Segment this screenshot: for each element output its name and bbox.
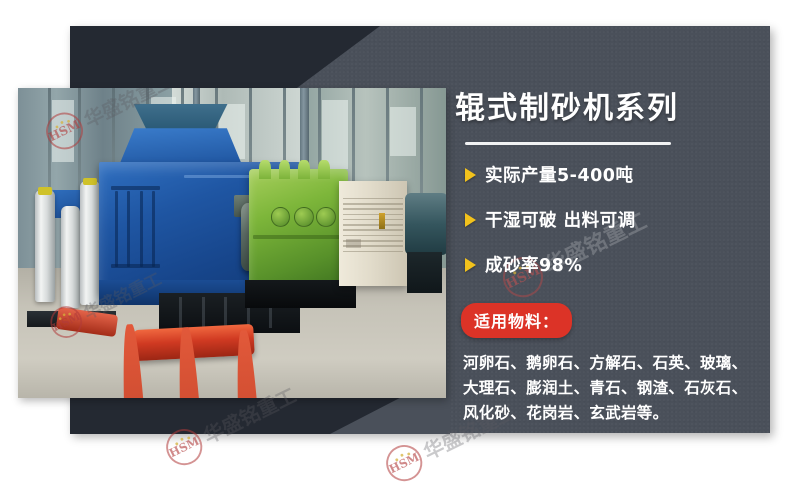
feature-item: 实际产量5-400吨: [455, 162, 770, 187]
feature-list: 实际产量5-400吨 干湿可破 出料可调 成砂率98%: [455, 162, 770, 277]
poster-title: 辊式制砂机系列: [455, 92, 770, 125]
cabinet-label: [379, 213, 385, 230]
machine-teal-motor: [405, 193, 446, 255]
machine-cabinet: [339, 181, 407, 286]
materials-badge: 适用物料：: [461, 303, 572, 338]
poster-canvas: HSM 华盛铭重工 HSM 华盛铭重工 HSM 华盛铭重工: [0, 0, 800, 486]
materials-text: 河卵石、鹅卵石、方解石、石英、玻璃、大理石、膨润土、青石、钢渣、石灰石、风化砂、…: [463, 351, 758, 426]
feature-label: 成砂率98%: [485, 252, 582, 277]
arrow-right-icon: [465, 213, 476, 227]
feature-item: 成砂率98%: [455, 252, 770, 277]
title-divider: [465, 142, 671, 145]
machine-teal-base: [407, 252, 441, 292]
machine-gearbox: [249, 169, 347, 287]
poster-content: 辊式制砂机系列 实际产量5-400吨 干湿可破 出料可调 成砂率98% 适用物料…: [455, 92, 770, 426]
arrow-right-icon: [465, 258, 476, 272]
feature-item: 干湿可破 出料可调: [455, 207, 770, 232]
feature-label: 干湿可破 出料可调: [485, 207, 636, 232]
product-photo: HSM 华盛铭重工 HSM 华盛铭重工: [18, 88, 446, 398]
arrow-right-icon: [465, 168, 476, 182]
feature-label: 实际产量5-400吨: [485, 162, 633, 187]
